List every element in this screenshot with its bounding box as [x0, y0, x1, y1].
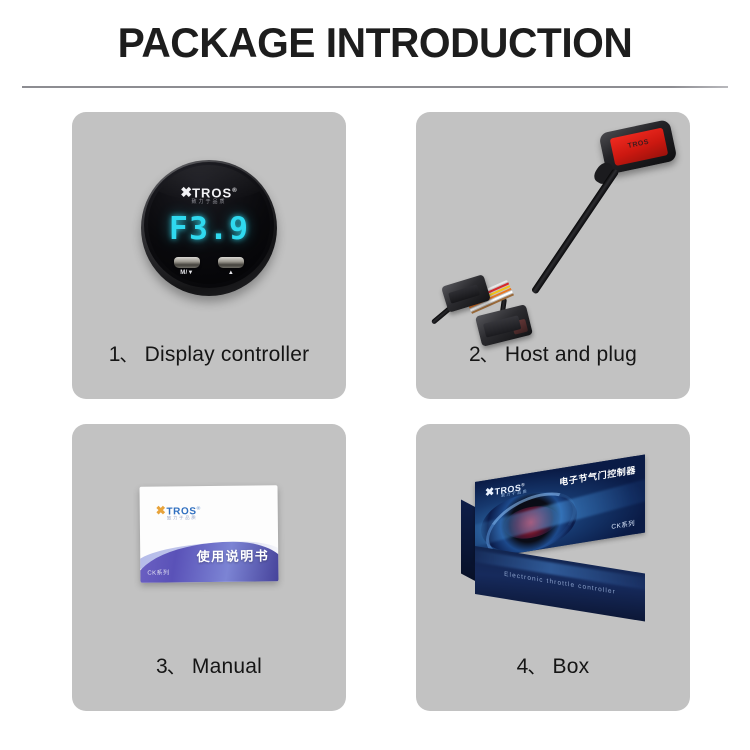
item-number: 2: [469, 343, 480, 366]
package-item-caption-1: 1、Display controller: [72, 340, 346, 367]
registered-mark: ®: [197, 506, 201, 512]
item-label: Display controller: [145, 343, 310, 366]
item-number: 1: [109, 343, 120, 366]
display-controller-image: ✖TROS® 致力于品质 F3.9 M/▼ ▲: [72, 112, 346, 334]
dial-button-cap: [174, 257, 200, 268]
box-front-face: Electronic throttle controller: [475, 546, 645, 622]
item-number: 3: [156, 655, 167, 678]
package-item-caption-2: 2、Host and plug: [416, 340, 690, 367]
page-title: PACKAGE INTRODUCTION: [11, 18, 739, 68]
host-brand-mark: TROS: [611, 135, 665, 153]
package-item-card-1[interactable]: ✖TROS® 致力于品质 F3.9 M/▼ ▲: [72, 112, 346, 399]
box-image: ✖TROS® 致力于品质 电子节气门控制器 CK系列 Electronic th…: [416, 424, 690, 646]
dial-button-cap: [218, 257, 244, 268]
item-label: Box: [553, 655, 590, 678]
title-divider: [22, 86, 728, 88]
dial-face: ✖TROS® 致力于品质 F3.9 M/▼ ▲: [148, 165, 270, 284]
dial-button-row: M/▼ ▲: [148, 257, 270, 276]
host-red-label: TROS: [610, 127, 669, 166]
host-and-plug-image: TROS: [416, 112, 690, 334]
package-items-grid: ✖TROS® 致力于品质 F3.9 M/▼ ▲: [72, 112, 690, 712]
dial-button-up[interactable]: ▲: [218, 257, 244, 276]
dial-controller: ✖TROS® 致力于品质 F3.9 M/▼ ▲: [141, 160, 277, 296]
brand-subtext-manual: 致力于品质: [167, 515, 198, 521]
package-item-card-3[interactable]: ✖TROS® 致力于品质 使用说明书 CK系列 3、Manual: [72, 424, 346, 711]
dial-button-up-label: ▲: [218, 270, 244, 276]
item-separator: 、: [480, 345, 505, 366]
registered-mark: ®: [521, 482, 525, 488]
brand-subtext-dial: 致力于品质: [148, 198, 270, 205]
product-box: ✖TROS® 致力于品质 电子节气门控制器 CK系列 Electronic th…: [461, 482, 645, 600]
dial-button-mode-down[interactable]: M/▼: [174, 257, 200, 276]
package-item-card-4[interactable]: ✖TROS® 致力于品质 电子节气门控制器 CK系列 Electronic th…: [416, 424, 690, 711]
manual-image: ✖TROS® 致力于品质 使用说明书 CK系列: [72, 424, 346, 646]
item-number: 4: [517, 655, 528, 678]
item-separator: 、: [119, 345, 144, 366]
item-separator: 、: [527, 657, 552, 678]
dial-readout: F3.9: [148, 211, 270, 247]
main-cable: [531, 168, 620, 295]
item-separator: 、: [167, 657, 192, 678]
brand-star-icon: ✖: [485, 486, 495, 500]
item-label: Manual: [192, 655, 262, 678]
package-item-caption-4: 4、Box: [416, 652, 690, 679]
brand-star-icon: ✖: [156, 503, 167, 517]
dial-button-mode-label: M/▼: [174, 270, 200, 276]
manual-booklet: ✖TROS® 致力于品质 使用说明书 CK系列: [140, 485, 279, 582]
package-item-card-2[interactable]: TROS 2、Host and plug: [416, 112, 690, 399]
box-top-face: ✖TROS® 致力于品质 电子节气门控制器 CK系列: [475, 454, 645, 560]
connector-latch: [511, 319, 528, 335]
item-label: Host and plug: [505, 343, 637, 366]
package-item-caption-3: 3、Manual: [72, 652, 346, 679]
manual-series-label: CK系列: [147, 567, 169, 576]
manual-title-cn: 使用说明书: [197, 545, 270, 565]
registered-mark: ®: [232, 188, 237, 194]
box-series-label: CK系列: [611, 517, 635, 531]
